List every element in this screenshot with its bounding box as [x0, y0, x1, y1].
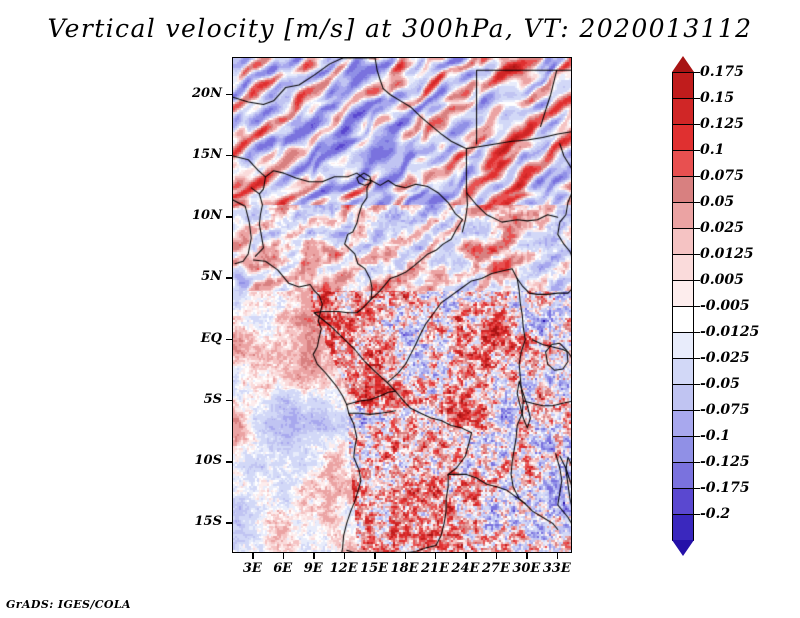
page-title: Vertical velocity [m/s] at 300hPa, VT: 2…: [0, 14, 800, 43]
lon-tick-mark: [405, 553, 407, 559]
colorbar-tick-label: 0.005: [700, 272, 744, 288]
colorbar-tick-mark: [694, 72, 700, 73]
lat-tick-mark: [226, 155, 232, 157]
colorbar-segment: [672, 150, 694, 177]
country-borders-overlay: [233, 58, 572, 553]
lon-tick-mark: [313, 553, 315, 559]
colorbar-tick-label: 0.05: [700, 194, 734, 210]
colorbar-tick-label: 0.175: [700, 64, 744, 80]
colorbar-segment: [672, 176, 694, 203]
colorbar-tick-label: -0.125: [700, 454, 750, 470]
lon-tick-label: 33E: [543, 561, 571, 576]
colorbar-segment: [672, 72, 694, 99]
lon-tick-mark: [344, 553, 346, 559]
lat-tick-mark: [226, 522, 232, 524]
lon-tick-label: 24E: [451, 561, 479, 576]
colorbar-tick-label: 0.075: [700, 168, 744, 184]
colorbar-max-arrow: [672, 56, 694, 72]
colorbar-segment: [672, 462, 694, 489]
footer-credit: GrADS: IGES/COLA: [6, 598, 131, 611]
lat-tick-mark: [226, 216, 232, 218]
lat-tick-mark: [226, 461, 232, 463]
colorbar-segment: [672, 98, 694, 125]
lon-tick-label: 3E: [243, 561, 262, 576]
colorbar-tick-mark: [694, 150, 700, 151]
lat-tick-mark: [226, 400, 232, 402]
colorbar-segment: [672, 124, 694, 151]
colorbar-tick-mark: [694, 254, 700, 255]
colorbar-tick-label: 0.125: [700, 116, 744, 132]
lon-tick-mark: [526, 553, 528, 559]
colorbar-segment: [672, 358, 694, 385]
colorbar-tick-label: -0.0125: [700, 324, 759, 340]
colorbar-segment: [672, 332, 694, 359]
colorbar-segment: [672, 306, 694, 333]
lon-tick-label: 27E: [482, 561, 510, 576]
colorbar-tick-mark: [694, 280, 700, 281]
colorbar-tick-label: -0.075: [700, 402, 750, 418]
lat-tick-mark: [226, 94, 232, 96]
colorbar-tick-label: 0.0125: [700, 246, 754, 262]
colorbar-segment: [672, 514, 694, 541]
colorbar-tick-mark: [694, 514, 700, 515]
colorbar-segment: [672, 384, 694, 411]
colorbar-tick-mark: [694, 488, 700, 489]
lat-tick-label: 10S: [0, 453, 222, 468]
map-plot-area: [232, 57, 572, 553]
colorbar-segment: [672, 228, 694, 255]
lon-tick-label: 30E: [512, 561, 540, 576]
colorbar-tick-mark: [694, 358, 700, 359]
colorbar-tick-mark: [694, 332, 700, 333]
lon-tick-mark: [557, 553, 559, 559]
lon-tick-label: 21E: [421, 561, 449, 576]
lon-tick-mark: [252, 553, 254, 559]
lat-tick-label: 20N: [0, 86, 222, 101]
lon-tick-label: 9E: [304, 561, 323, 576]
colorbar-tick-label: -0.175: [700, 480, 750, 496]
lon-tick-mark: [435, 553, 437, 559]
colorbar-tick-label: -0.2: [700, 506, 730, 522]
colorbar-tick-mark: [694, 384, 700, 385]
colorbar-segment: [672, 254, 694, 281]
lat-tick-label: 15N: [0, 147, 222, 162]
colorbar-tick-label: -0.025: [700, 350, 750, 366]
lon-tick-mark: [374, 553, 376, 559]
lat-tick-label: 10N: [0, 208, 222, 223]
colorbar-tick-mark: [694, 462, 700, 463]
lat-tick-label: EQ: [0, 331, 222, 346]
colorbar-segment: [672, 280, 694, 307]
colorbar-tick-label: 0.1: [700, 142, 724, 158]
colorbar-tick-mark: [694, 202, 700, 203]
lon-tick-mark: [465, 553, 467, 559]
colorbar-tick-mark: [694, 436, 700, 437]
lat-tick-mark: [226, 339, 232, 341]
lon-tick-mark: [283, 553, 285, 559]
colorbar: 0.1750.150.1250.10.0750.050.0250.01250.0…: [672, 72, 694, 540]
colorbar-segment: [672, 436, 694, 463]
colorbar-tick-mark: [694, 228, 700, 229]
lon-tick-label: 6E: [273, 561, 292, 576]
colorbar-segment: [672, 488, 694, 515]
colorbar-tick-mark: [694, 306, 700, 307]
lat-tick-label: 15S: [0, 514, 222, 529]
colorbar-tick-mark: [694, 410, 700, 411]
colorbar-segment: [672, 202, 694, 229]
lat-tick-label: 5N: [0, 269, 222, 284]
colorbar-tick-mark: [694, 124, 700, 125]
colorbar-tick-label: -0.1: [700, 428, 730, 444]
lat-tick-mark: [226, 277, 232, 279]
colorbar-tick-label: -0.05: [700, 376, 740, 392]
colorbar-tick-label: 0.025: [700, 220, 744, 236]
colorbar-tick-mark: [694, 176, 700, 177]
lon-tick-label: 18E: [391, 561, 419, 576]
colorbar-tick-label: 0.15: [700, 90, 734, 106]
colorbar-segment: [672, 410, 694, 437]
colorbar-tick-mark: [694, 98, 700, 99]
lon-tick-label: 12E: [330, 561, 358, 576]
colorbar-min-arrow: [672, 540, 694, 556]
lon-tick-label: 15E: [360, 561, 388, 576]
lat-tick-label: 5S: [0, 392, 222, 407]
lon-tick-mark: [496, 553, 498, 559]
colorbar-tick-label: -0.005: [700, 298, 750, 314]
